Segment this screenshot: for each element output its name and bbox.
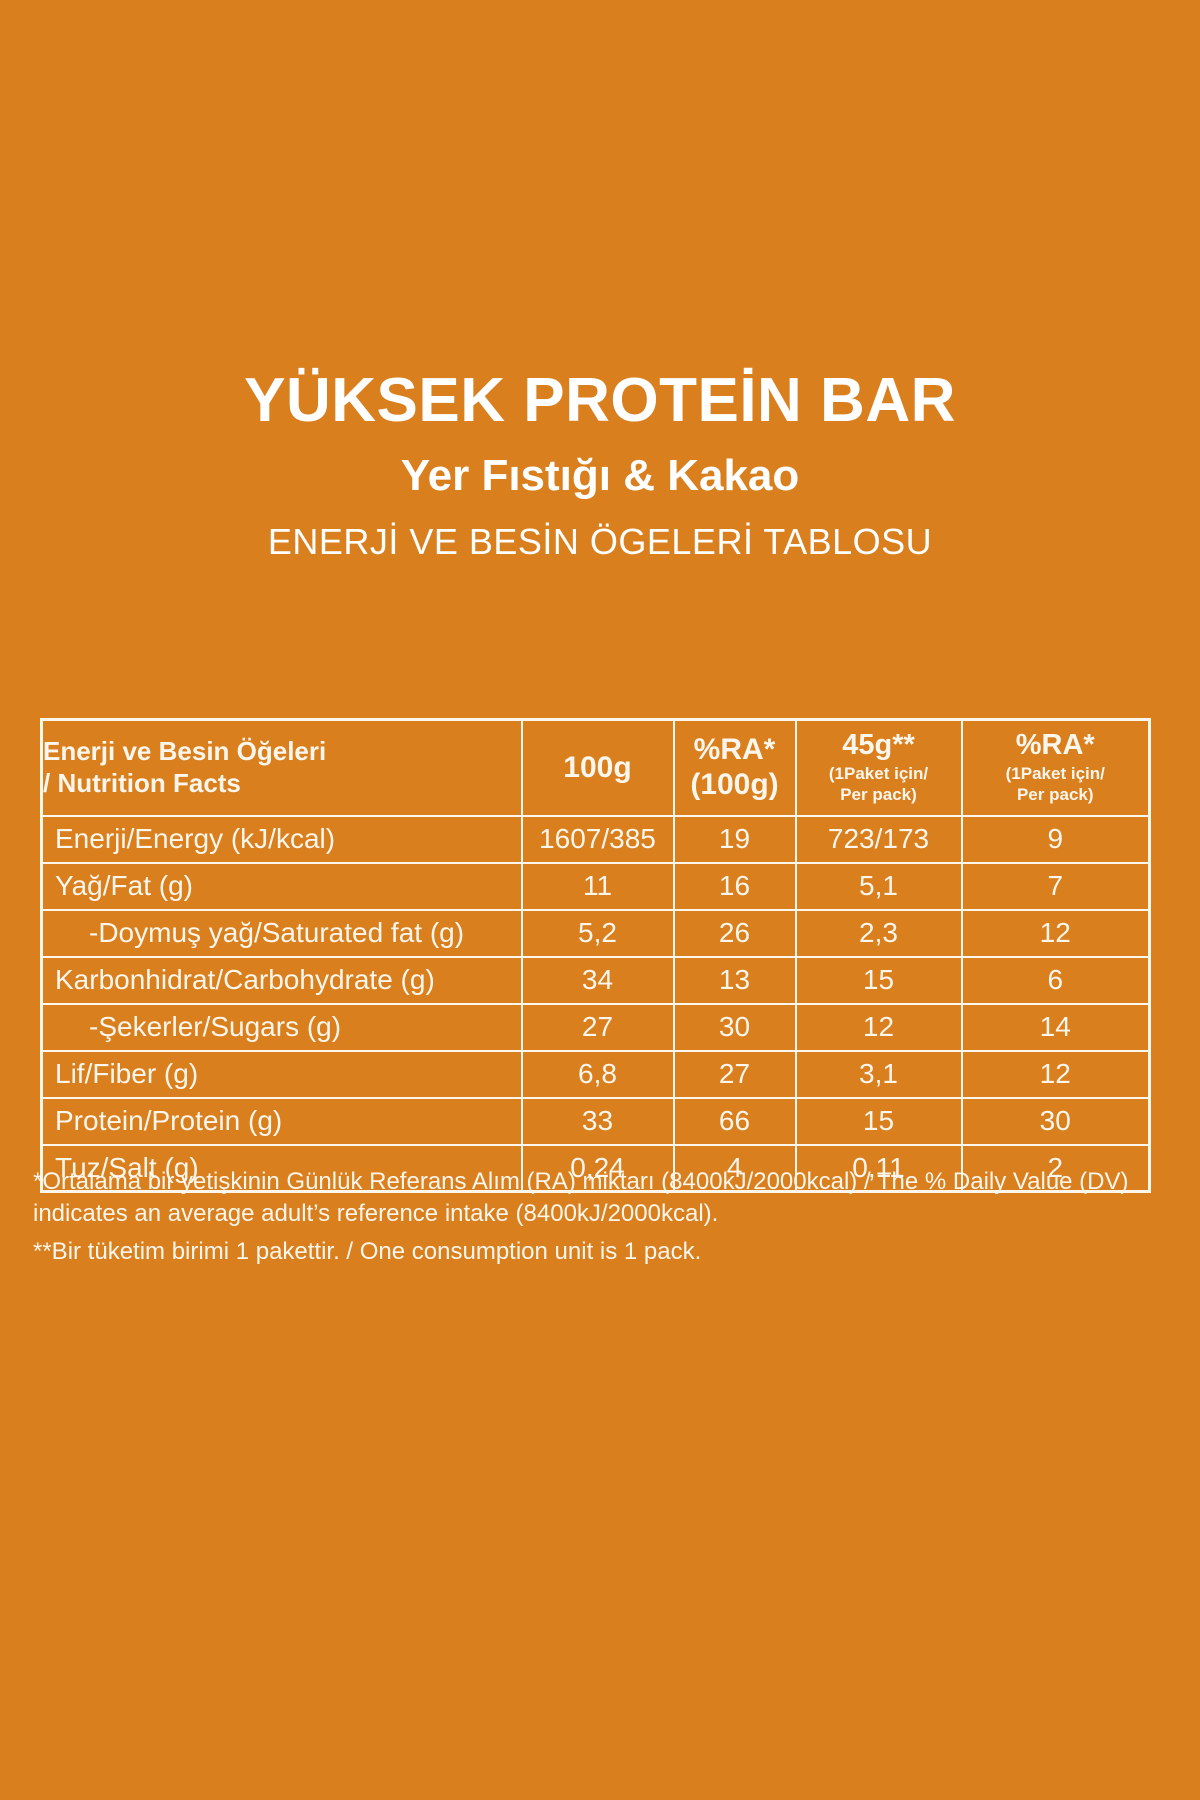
- header-block: YÜKSEK PROTEİN BAR Yer Fıstığı & Kakao E…: [0, 370, 1200, 560]
- column-header-per-100g-text: 100g: [563, 751, 631, 784]
- row-label: -Doymuş yağ/Saturated fat (g): [42, 910, 522, 957]
- column-header-per-pack-sub2: Per pack): [797, 785, 961, 805]
- cell-per-100g: 6,8: [522, 1051, 674, 1098]
- nutrition-label-page: YÜKSEK PROTEİN BAR Yer Fıstığı & Kakao E…: [0, 0, 1200, 1800]
- cell-per-pack: 3,1: [796, 1051, 962, 1098]
- table-row: Karbonhidrat/Carbohydrate (g)3413156: [42, 957, 1150, 1004]
- cell-per-100g: 5,2: [522, 910, 674, 957]
- cell-ra-pack: 14: [962, 1004, 1150, 1051]
- cell-per-100g: 1607/385: [522, 816, 674, 863]
- table-row: -Şekerler/Sugars (g)27301214: [42, 1004, 1150, 1051]
- column-header-per-100g: 100g: [522, 720, 674, 816]
- row-label: Lif/Fiber (g): [42, 1051, 522, 1098]
- cell-ra-pack: 6: [962, 957, 1150, 1004]
- table-row: Lif/Fiber (g)6,8273,112: [42, 1051, 1150, 1098]
- column-header-label: Enerji ve Besin Öğeleri / Nutrition Fact…: [42, 720, 522, 816]
- page-title: YÜKSEK PROTEİN BAR: [0, 370, 1200, 432]
- column-header-per-pack-line1: 45g**: [842, 729, 915, 761]
- column-header-ra-pack-sub2: Per pack): [963, 785, 1149, 805]
- cell-ra-100g: 13: [674, 957, 796, 1004]
- column-header-ra-pack-sub1: (1Paket için/: [1006, 764, 1105, 783]
- cell-ra-pack: 12: [962, 910, 1150, 957]
- cell-per-100g: 11: [522, 863, 674, 910]
- footnote-consumption-unit: **Bir tüketim birimi 1 pakettir. / One c…: [33, 1236, 1163, 1268]
- cell-ra-100g: 30: [674, 1004, 796, 1051]
- column-header-ra-pack: %RA* (1Paket için/ Per pack): [962, 720, 1150, 816]
- cell-ra-pack: 12: [962, 1051, 1150, 1098]
- table-row: Yağ/Fat (g)11165,17: [42, 863, 1150, 910]
- row-label: Yağ/Fat (g): [42, 863, 522, 910]
- table-header-row: Enerji ve Besin Öğeleri / Nutrition Fact…: [42, 720, 1150, 816]
- footnote-reference-intake: *Ortalama bir yetişkinin Günlük Referans…: [33, 1166, 1163, 1230]
- column-header-ra-100g-line2: (100g): [675, 768, 795, 803]
- table-body: Enerji/Energy (kJ/kcal)1607/38519723/173…: [42, 816, 1150, 1192]
- cell-ra-100g: 66: [674, 1098, 796, 1145]
- cell-ra-100g: 27: [674, 1051, 796, 1098]
- cell-per-100g: 33: [522, 1098, 674, 1145]
- cell-ra-pack: 30: [962, 1098, 1150, 1145]
- cell-per-pack: 12: [796, 1004, 962, 1051]
- column-header-per-pack-sub: (1Paket için/ Per pack): [797, 764, 961, 805]
- cell-ra-pack: 7: [962, 863, 1150, 910]
- nutrition-table-wrapper: Enerji ve Besin Öğeleri / Nutrition Fact…: [40, 718, 1148, 1193]
- cell-ra-100g: 26: [674, 910, 796, 957]
- cell-ra-100g: 16: [674, 863, 796, 910]
- column-header-per-pack: 45g** (1Paket için/ Per pack): [796, 720, 962, 816]
- column-header-ra-pack-sub: (1Paket için/ Per pack): [963, 764, 1149, 805]
- cell-per-100g: 27: [522, 1004, 674, 1051]
- column-header-ra-100g: %RA* (100g): [674, 720, 796, 816]
- cell-per-pack: 15: [796, 957, 962, 1004]
- section-title: ENERJİ VE BESİN ÖGELERİ TABLOSU: [0, 524, 1200, 560]
- cell-ra-100g: 19: [674, 816, 796, 863]
- table-head: Enerji ve Besin Öğeleri / Nutrition Fact…: [42, 720, 1150, 816]
- row-label: Enerji/Energy (kJ/kcal): [42, 816, 522, 863]
- column-header-label-line1: Enerji ve Besin Öğeleri: [43, 736, 326, 766]
- cell-per-pack: 5,1: [796, 863, 962, 910]
- row-label: Karbonhidrat/Carbohydrate (g): [42, 957, 522, 1004]
- column-header-ra-100g-line1: %RA*: [694, 733, 776, 766]
- table-row: -Doymuş yağ/Saturated fat (g)5,2262,312: [42, 910, 1150, 957]
- cell-per-pack: 15: [796, 1098, 962, 1145]
- column-header-ra-pack-line1: %RA*: [1016, 729, 1095, 761]
- footnotes: *Ortalama bir yetişkinin Günlük Referans…: [33, 1166, 1163, 1268]
- column-header-per-pack-sub1: (1Paket için/: [829, 764, 928, 783]
- nutrition-table: Enerji ve Besin Öğeleri / Nutrition Fact…: [40, 718, 1151, 1193]
- cell-per-pack: 723/173: [796, 816, 962, 863]
- row-label: -Şekerler/Sugars (g): [42, 1004, 522, 1051]
- cell-per-pack: 2,3: [796, 910, 962, 957]
- row-label: Protein/Protein (g): [42, 1098, 522, 1145]
- table-row: Enerji/Energy (kJ/kcal)1607/38519723/173…: [42, 816, 1150, 863]
- cell-per-100g: 34: [522, 957, 674, 1004]
- column-header-label-line2: / Nutrition Facts: [43, 768, 521, 800]
- table-row: Protein/Protein (g)33661530: [42, 1098, 1150, 1145]
- cell-ra-pack: 9: [962, 816, 1150, 863]
- product-flavor-subtitle: Yer Fıstığı & Kakao: [0, 454, 1200, 498]
